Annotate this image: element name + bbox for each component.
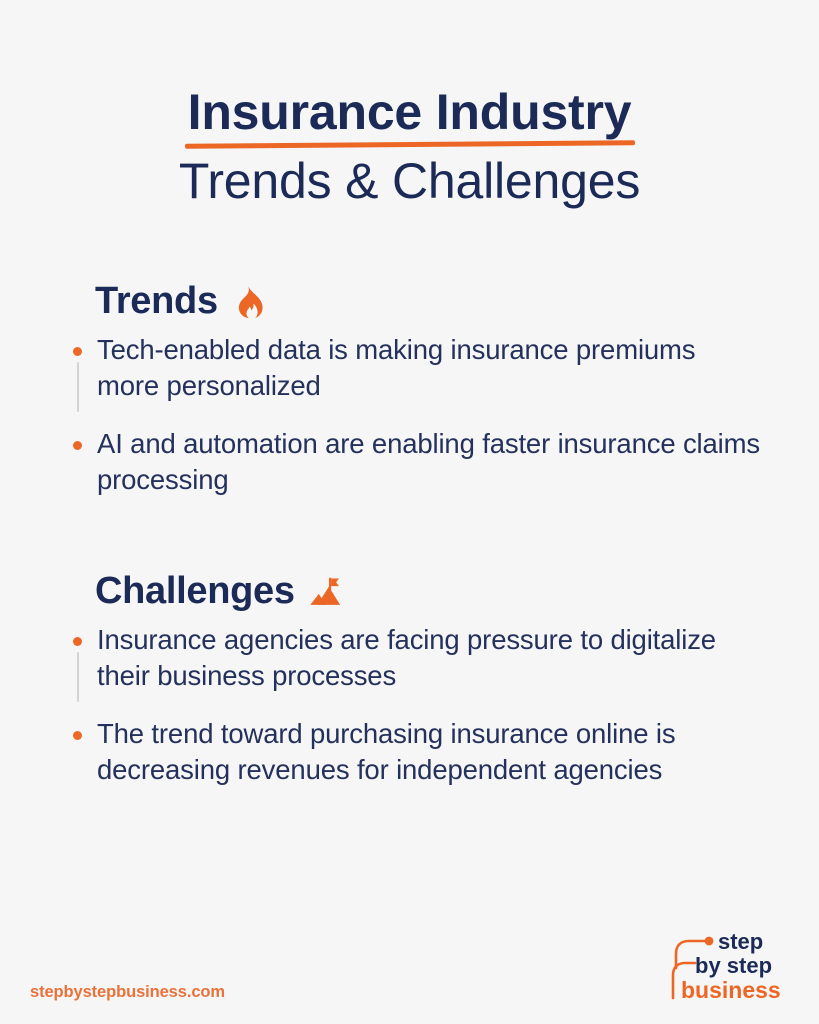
mountain-flag-icon	[306, 573, 344, 611]
logo-line1: step	[718, 929, 763, 954]
bullet-text: Insurance agencies are facing pressure t…	[97, 622, 764, 694]
logo-line3: business	[681, 977, 781, 1003]
bullet-dot-icon	[73, 441, 82, 450]
page-title-primary: Insurance Industry	[188, 86, 632, 138]
logo-dot-icon	[705, 937, 714, 946]
bullet-connector-line	[77, 652, 79, 702]
section-heading-trends-label: Trends	[95, 280, 218, 323]
list-item: Insurance agencies are facing pressure t…	[73, 622, 764, 694]
bullet-text: The trend toward purchasing insurance on…	[97, 716, 764, 788]
list-item: Tech-enabled data is making insurance pr…	[73, 332, 764, 404]
stepbystepbusiness-logo: step by step business	[665, 928, 795, 1006]
list-item: The trend toward purchasing insurance on…	[73, 716, 764, 788]
list-item: AI and automation are enabling faster in…	[73, 426, 764, 498]
bullet-text: Tech-enabled data is making insurance pr…	[97, 332, 764, 404]
title-block: Insurance Industry Trends & Challenges	[0, 0, 819, 207]
logo-line2: by step	[695, 953, 772, 978]
section-heading-trends: Trends	[95, 280, 764, 323]
section-trends: Trends Tech-enabled data is making insur…	[0, 280, 819, 498]
bullet-connector-line	[77, 362, 79, 412]
infographic-page: Insurance Industry Trends & Challenges T…	[0, 0, 819, 1024]
section-challenges: Challenges Insurance agencies are facing…	[0, 570, 819, 788]
bullet-dot-icon	[73, 347, 82, 356]
footer-website-url: stepbystepbusiness.com	[30, 983, 225, 1002]
page-title-secondary: Trends & Challenges	[0, 155, 819, 207]
bullet-dot-icon	[73, 731, 82, 740]
page-title-primary-text: Insurance Industry	[188, 84, 632, 140]
bullet-text: AI and automation are enabling faster in…	[97, 426, 764, 498]
title-underline	[185, 140, 635, 149]
bullet-dot-icon	[73, 637, 82, 646]
bullet-list-trends: Tech-enabled data is making insurance pr…	[73, 332, 764, 498]
section-heading-challenges: Challenges	[95, 570, 764, 613]
bullet-list-challenges: Insurance agencies are facing pressure t…	[73, 622, 764, 788]
fire-icon	[229, 283, 267, 321]
section-heading-challenges-label: Challenges	[95, 570, 295, 613]
